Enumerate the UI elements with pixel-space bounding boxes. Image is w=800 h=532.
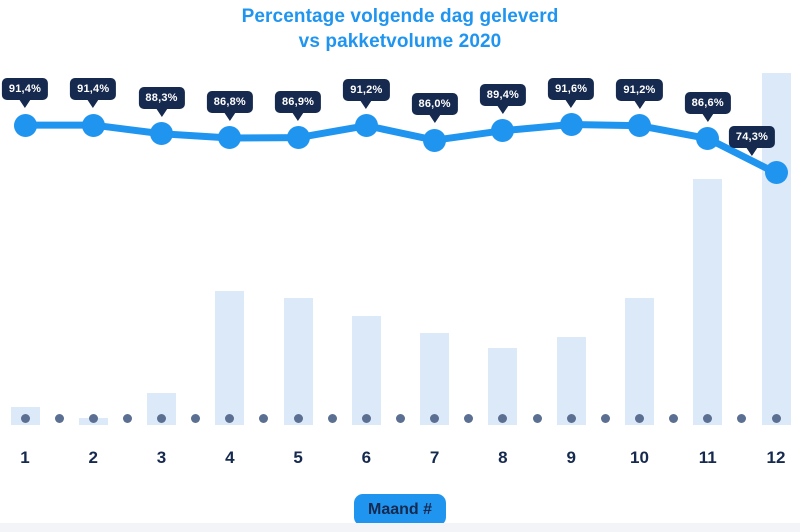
axis-dot: [362, 414, 371, 423]
chart-title-line-2: vs pakketvolume 2020: [0, 29, 800, 54]
axis-dot: [294, 414, 303, 423]
value-callout-month-10: 91,2%: [616, 79, 662, 101]
axis-dot: [123, 414, 132, 423]
axis-dot: [430, 414, 439, 423]
value-callout-month-2: 91,4%: [70, 78, 116, 100]
value-callout-month-9: 91,6%: [548, 78, 594, 100]
chart-container: Percentage volgende dag geleverd vs pakk…: [0, 0, 800, 532]
axis-dot: [464, 414, 473, 423]
axis-dot: [225, 414, 234, 423]
axis-dot: [21, 414, 30, 423]
axis-dot: [396, 414, 405, 423]
x-tick-2: 2: [89, 448, 98, 468]
chart-title: Percentage volgende dag geleverd vs pakk…: [0, 4, 800, 54]
axis-dot: [737, 414, 746, 423]
axis-dot: [533, 414, 542, 423]
axis-dot-row: [0, 60, 800, 425]
value-callout-month-12: 74,3%: [729, 126, 775, 148]
bottom-strip: [0, 523, 800, 532]
x-tick-1: 1: [20, 448, 29, 468]
axis-dot: [601, 414, 610, 423]
value-callout-month-6: 91,2%: [343, 79, 389, 101]
value-callout-month-5: 86,9%: [275, 91, 321, 113]
x-tick-10: 10: [630, 448, 649, 468]
value-callout-month-11: 86,6%: [685, 92, 731, 114]
axis-dot: [772, 414, 781, 423]
value-callout-month-3: 88,3%: [138, 87, 184, 109]
axis-dot: [635, 414, 644, 423]
plot-area: 91,4%91,4%88,3%86,8%86,9%91,2%86,0%89,4%…: [0, 60, 800, 425]
x-tick-5: 5: [293, 448, 302, 468]
value-callout-month-4: 86,8%: [207, 91, 253, 113]
x-tick-12: 12: [767, 448, 786, 468]
axis-dot: [55, 414, 64, 423]
axis-dot: [157, 414, 166, 423]
chart-title-line-1: Percentage volgende dag geleverd: [242, 6, 559, 27]
x-tick-9: 9: [566, 448, 575, 468]
axis-dot: [259, 414, 268, 423]
x-tick-6: 6: [362, 448, 371, 468]
value-callout-month-1: 91,4%: [2, 78, 48, 100]
value-callout-month-8: 89,4%: [480, 84, 526, 106]
axis-dot: [498, 414, 507, 423]
axis-dot: [567, 414, 576, 423]
axis-dot: [703, 414, 712, 423]
x-tick-3: 3: [157, 448, 166, 468]
x-tick-7: 7: [430, 448, 439, 468]
value-callout-month-7: 86,0%: [412, 93, 458, 115]
x-tick-11: 11: [699, 448, 717, 468]
axis-dot: [328, 414, 337, 423]
x-tick-8: 8: [498, 448, 507, 468]
x-axis-tick-labels: 123456789101112: [0, 448, 800, 476]
axis-dot: [669, 414, 678, 423]
x-axis-title-badge: Maand #: [354, 494, 446, 526]
x-tick-4: 4: [225, 448, 234, 468]
axis-dot: [191, 414, 200, 423]
axis-dot: [89, 414, 98, 423]
